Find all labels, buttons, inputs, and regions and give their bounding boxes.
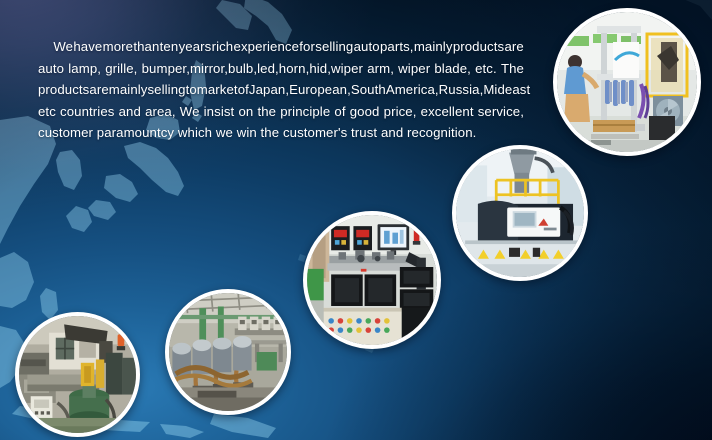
product-photo-3-image (307, 215, 437, 345)
product-photo-4-image (169, 293, 287, 411)
product-photo-2-image (456, 149, 584, 277)
company-intro-banner: Wehavemorethantenyearsrichexperiencefors… (0, 0, 712, 440)
intro-line-3: productsaremainlysellingtomarketofJapan,… (38, 79, 524, 101)
intro-line-5: customer paramountcy which we win the cu… (38, 122, 524, 144)
product-photo-2[interactable] (452, 145, 588, 281)
product-photo-5[interactable] (15, 312, 140, 437)
product-photo-1[interactable] (553, 8, 701, 156)
product-photo-5-image (19, 316, 136, 433)
product-photo-4[interactable] (165, 289, 291, 415)
product-photo-3[interactable] (303, 211, 441, 349)
product-photo-1-image (557, 12, 697, 152)
intro-line-2: autolamp,grille,bumper,mirror,bulb,led,h… (38, 58, 524, 80)
intro-line-4: etccountriesandarea,Weinsistontheprincip… (38, 101, 524, 123)
company-intro-text: Wehavemorethantenyearsrichexperiencefors… (38, 36, 524, 144)
intro-line-1: Wehavemorethantenyearsrichexperiencefors… (38, 36, 524, 58)
